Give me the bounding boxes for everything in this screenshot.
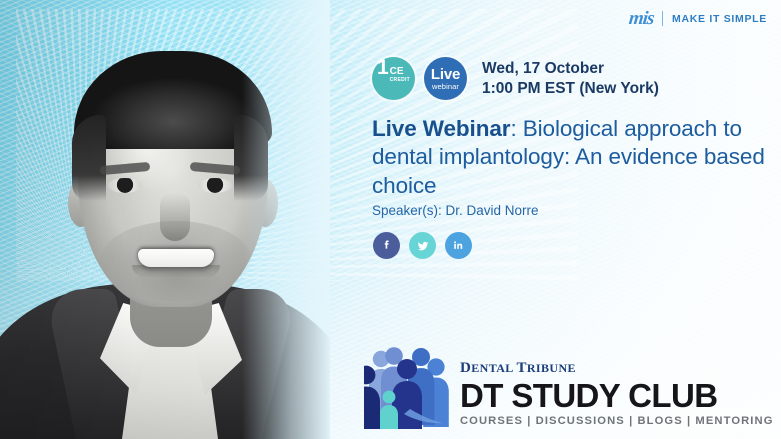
webinar-promo-banner: mis MAKE IT SIMPLE 1 CE CREDIT Live webi… [0, 0, 781, 439]
ce-credit-badge: 1 CE CREDIT [372, 57, 415, 100]
ce-credit-number: 1 [377, 57, 389, 78]
meta-row: 1 CE CREDIT Live webinar Wed, 17 October… [372, 57, 659, 100]
webinar-title: Live Webinar: Biological approach to den… [372, 115, 772, 200]
dt-study-club-title: DT STUDY CLUB [460, 379, 774, 412]
webinar-speaker: Speaker(s): Dr. David Norre [372, 203, 539, 218]
dt-study-club-logo[interactable]: DENTAL TRIBUNE DT STUDY CLUB COURSES | D… [364, 343, 774, 429]
webinar-title-prefix: Live Webinar [372, 116, 510, 141]
social-share-row [373, 232, 472, 259]
live-badge-subtitle: webinar [432, 83, 459, 91]
twitter-icon[interactable] [409, 232, 436, 259]
schedule-date: Wed, 17 October [482, 59, 659, 79]
ce-credit-unit: CE [390, 67, 404, 77]
people-group-icon [364, 343, 452, 429]
schedule-time: 1:00 PM EST (New York) [482, 79, 659, 99]
dental-tribune-eyebrow: DENTAL TRIBUNE [460, 361, 774, 376]
portrait-edge-blend [242, 0, 330, 439]
ce-credit-sub: CREDIT [390, 78, 410, 83]
schedule-block: Wed, 17 October 1:00 PM EST (New York) [482, 59, 659, 99]
dt-study-club-wordmark: DENTAL TRIBUNE DT STUDY CLUB COURSES | D… [460, 361, 774, 429]
ce-credit-label-stack: CE CREDIT [390, 67, 410, 84]
facebook-icon[interactable] [373, 232, 400, 259]
live-badge-title: Live [431, 67, 460, 82]
dt-eyebrow-c: T [516, 360, 526, 376]
dt-eyebrow-b: ENTAL [471, 361, 516, 375]
dt-eyebrow-a: D [460, 360, 471, 376]
dt-eyebrow-d: RIBUNE [527, 361, 576, 375]
live-webinar-badge: Live webinar [424, 57, 467, 100]
dt-study-club-tagline: COURSES | DISCUSSIONS | BLOGS | MENTORIN… [460, 416, 774, 427]
linkedin-icon[interactable] [445, 232, 472, 259]
speaker-portrait [0, 0, 330, 439]
